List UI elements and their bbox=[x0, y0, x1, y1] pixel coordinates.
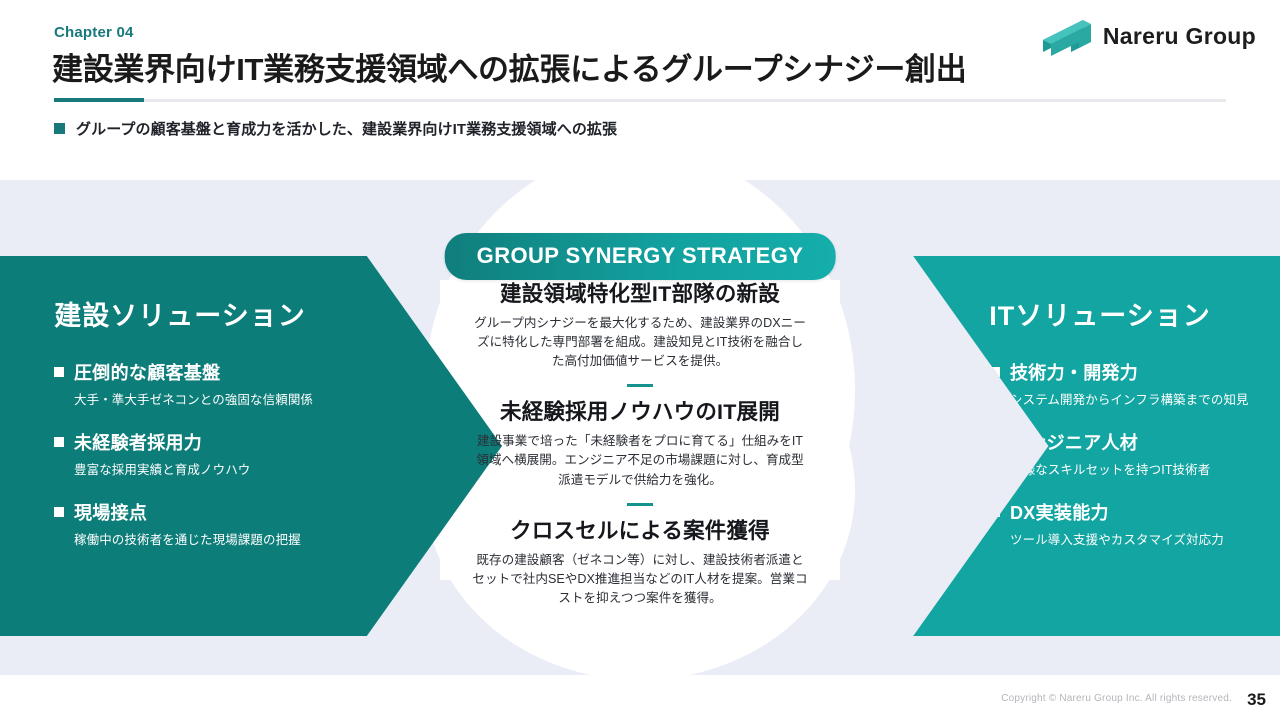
center-block: 建設領域特化型IT部隊の新設 グループ内シナジーを最大化するため、建設業界のDX… bbox=[454, 281, 826, 371]
nareru-logo-mark-icon bbox=[1041, 16, 1093, 56]
list-item-desc: 大手・準大手ゼネコンとの強固な信頼関係 bbox=[74, 389, 360, 408]
panel-right-title: ITソリューション bbox=[920, 256, 1280, 333]
list-item: エンジニア人材 多様なスキルセットを持つIT技術者 bbox=[990, 429, 1280, 478]
list-item-title: 技術力・開発力 bbox=[1010, 359, 1138, 385]
square-bullet-icon bbox=[990, 437, 1000, 447]
center-block-title: クロスセルによる案件獲得 bbox=[454, 518, 826, 546]
title-divider-accent bbox=[54, 98, 144, 102]
list-item-desc: 稼働中の技術者を通じた現場課題の把握 bbox=[74, 529, 360, 548]
panel-construction-solution: 建設ソリューション 圧倒的な顧客基盤 大手・準大手ゼネコンとの強固な信頼関係 未… bbox=[0, 256, 502, 636]
center-block-title: 建設領域特化型IT部隊の新設 bbox=[454, 281, 826, 309]
list-item-desc: ツール導入支援やカスタマイズ対応力 bbox=[1010, 529, 1280, 548]
list-item: 技術力・開発力 システム開発からインフラ構築までの知見 bbox=[990, 359, 1280, 408]
panel-left-title: 建設ソリューション bbox=[0, 256, 360, 333]
list-item-desc: 多様なスキルセットを持つIT技術者 bbox=[1010, 459, 1280, 478]
list-item-desc: システム開発からインフラ構築までの知見 bbox=[1010, 389, 1280, 408]
square-bullet-icon bbox=[54, 367, 64, 377]
page-title: 建設業界向けIT業務支援領域への拡張によるグループシナジー創出 bbox=[52, 44, 966, 89]
diagram-stage: 建設ソリューション 圧倒的な顧客基盤 大手・準大手ゼネコンとの強固な信頼関係 未… bbox=[0, 180, 1280, 675]
square-bullet-icon bbox=[54, 437, 64, 447]
list-item-title: 未経験者採用力 bbox=[74, 429, 202, 455]
list-item: 未経験者採用力 豊富な採用実績と育成ノウハウ bbox=[54, 429, 360, 478]
center-block: クロスセルによる案件獲得 既存の建設顧客（ゼネコン等）に対し、建設技術者派遣とセ… bbox=[454, 518, 826, 608]
logo-text: Nareru Group bbox=[1103, 23, 1256, 50]
list-item-title: 現場接点 bbox=[74, 499, 147, 525]
center-block: 未経験採用ノウハウのIT展開 建設事業で培った「未経験者をプロに育てる」仕組みを… bbox=[454, 399, 826, 489]
title-divider bbox=[54, 99, 1226, 102]
list-item-desc: 豊富な採用実績と育成ノウハウ bbox=[74, 459, 360, 478]
square-bullet-icon bbox=[990, 507, 1000, 517]
square-bullet-icon bbox=[54, 123, 65, 134]
list-item: 現場接点 稼働中の技術者を通じた現場課題の把握 bbox=[54, 499, 360, 548]
subtitle-text: グループの顧客基盤と育成力を活かした、建設業界向けIT業務支援領域への拡張 bbox=[76, 118, 617, 139]
list-item-title: エンジニア人材 bbox=[1010, 429, 1138, 455]
list-item-title: 圧倒的な顧客基盤 bbox=[74, 359, 220, 385]
center-divider bbox=[627, 503, 653, 506]
center-block-title: 未経験採用ノウハウのIT展開 bbox=[454, 399, 826, 427]
center-content-stack: 建設領域特化型IT部隊の新設 グループ内シナジーを最大化するため、建設業界のDX… bbox=[454, 281, 826, 608]
center-block-desc: 既存の建設顧客（ゼネコン等）に対し、建設技術者派遣とセットで社内SEやDX推進担… bbox=[472, 551, 808, 608]
list-item: DX実装能力 ツール導入支援やカスタマイズ対応力 bbox=[990, 499, 1280, 548]
list-item-title: DX実装能力 bbox=[1010, 499, 1109, 525]
center-block-desc: 建設事業で培った「未経験者をプロに育てる」仕組みをIT領域へ横展開。エンジニア不… bbox=[472, 432, 808, 489]
panel-it-solution: ITソリューション 技術力・開発力 システム開発からインフラ構築までの知見 エン… bbox=[778, 256, 1280, 636]
slide-footer: Copyright © Nareru Group Inc. All rights… bbox=[0, 675, 1280, 720]
list-item: 圧倒的な顧客基盤 大手・準大手ゼネコンとの強固な信頼関係 bbox=[54, 359, 360, 408]
brand-logo: Nareru Group bbox=[1041, 15, 1256, 57]
slide-header: Chapter 04 建設業界向けIT業務支援領域への拡張によるグループシナジー… bbox=[0, 0, 1280, 180]
square-bullet-icon bbox=[990, 367, 1000, 377]
subtitle-row: グループの顧客基盤と育成力を活かした、建設業界向けIT業務支援領域への拡張 bbox=[54, 118, 617, 139]
copyright-text: Copyright © Nareru Group Inc. All rights… bbox=[1001, 693, 1232, 704]
slide: Chapter 04 建設業界向けIT業務支援領域への拡張によるグループシナジー… bbox=[0, 0, 1280, 720]
center-block-desc: グループ内シナジーを最大化するため、建設業界のDXニーズに特化した専門部署を組成… bbox=[472, 314, 808, 371]
chapter-label: Chapter 04 bbox=[54, 24, 134, 41]
strategy-badge: GROUP SYNERGY STRATEGY bbox=[445, 233, 836, 280]
page-number: 35 bbox=[1247, 690, 1266, 710]
square-bullet-icon bbox=[54, 507, 64, 517]
panel-right-list: 技術力・開発力 システム開発からインフラ構築までの知見 エンジニア人材 多様なス… bbox=[920, 359, 1280, 548]
center-divider bbox=[627, 384, 653, 387]
panel-left-list: 圧倒的な顧客基盤 大手・準大手ゼネコンとの強固な信頼関係 未経験者採用力 豊富な… bbox=[0, 359, 360, 548]
strategy-badge-label: GROUP SYNERGY STRATEGY bbox=[477, 243, 804, 268]
